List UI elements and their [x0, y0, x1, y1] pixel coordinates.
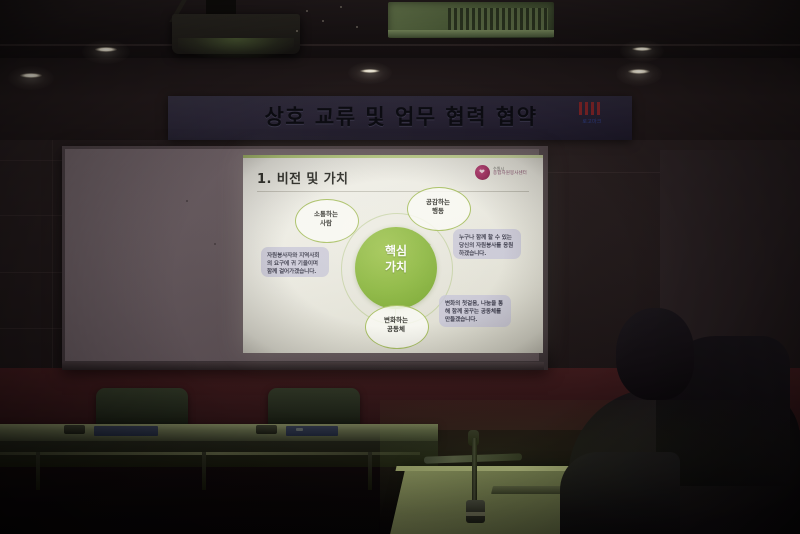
board-speck: [214, 243, 216, 245]
banner-logo: 로고마크: [572, 102, 612, 132]
callout-community-text: 변화의 첫걸음, 나눔을 통해 함께 꿈꾸는 공동체를 만들겠습니다.: [445, 300, 505, 324]
microphone-base-ring: [466, 512, 485, 516]
node-action-line1: 공감하는: [407, 198, 469, 207]
core-value-label: 핵심 가치: [355, 243, 437, 275]
event-banner: 상호 교류 및 업무 협력 협약 로고마크: [168, 96, 632, 140]
callout-people: 자원봉사자와 지역사회의 요구에 귀 기울이며 함께 걸어가겠습니다.: [261, 247, 329, 277]
attendee-arm: [560, 452, 680, 534]
downlight: [632, 47, 652, 51]
banner-logo-text: 로고마크: [572, 118, 612, 125]
table-leg: [36, 452, 40, 490]
downlight-glow: [620, 40, 664, 62]
node-people-line2: 사람: [295, 219, 357, 228]
table-leg: [202, 452, 206, 490]
air-vent-lip: [388, 30, 554, 37]
callout-action-text: 누구나 함께 할 수 있는 당신의 자원봉사를 응원하겠습니다.: [459, 234, 515, 258]
ceiling-speck: [356, 26, 358, 28]
chair: [268, 388, 360, 428]
seated-attendee: [560, 300, 800, 534]
ceiling-speck: [340, 6, 342, 8]
core-value-line1: 핵심: [355, 243, 437, 259]
conference-room-photo: 상호 교류 및 업무 협력 협약 로고마크 1. 비전 및 가치 ❤ 수원시 종…: [0, 0, 800, 534]
desk-paper: [491, 486, 563, 494]
node-people-line1: 소통하는: [295, 210, 357, 219]
board-tray: [62, 362, 544, 370]
slide-logo-badge-icon: ❤: [475, 165, 490, 180]
projector-lens-glow: [178, 38, 294, 58]
wall-panel-seam: [52, 140, 53, 375]
heart-icon: ❤: [479, 169, 486, 176]
slide-logo-text: 수원시 종합자원봉사센터: [493, 166, 531, 176]
slide-top-accent-bar: [243, 155, 543, 158]
desk-device-accent: [296, 428, 303, 431]
callout-action: 누구나 함께 할 수 있는 당신의 자원봉사를 응원하겠습니다.: [453, 229, 521, 259]
desk-device: [64, 425, 85, 434]
node-action-line2: 행동: [407, 207, 469, 216]
downlight-glow: [8, 66, 54, 90]
node-label-action: 공감하는 행동: [407, 198, 469, 216]
desk-device: [256, 425, 277, 434]
node-community-line1: 변화하는: [365, 316, 427, 325]
banner-logo-mark-icon: [579, 102, 601, 115]
downlight: [20, 73, 42, 78]
slide-organization-logo: ❤ 수원시 종합자원봉사센터: [475, 165, 531, 181]
downlight-glow: [82, 40, 130, 64]
banner-title: 상호 교류 및 업무 협력 협약: [226, 101, 576, 131]
conference-table-rail: [0, 452, 420, 455]
node-label-people: 소통하는 사람: [295, 210, 357, 228]
wall-panel-seam: [0, 160, 70, 161]
downlight-glow: [348, 62, 392, 84]
microphone-stem: [472, 438, 477, 504]
chair: [96, 388, 188, 428]
core-value-line2: 가치: [355, 259, 437, 275]
slide-logo-line2: 종합자원봉사센터: [493, 171, 531, 176]
downlight: [628, 69, 650, 74]
ceiling-speck: [322, 20, 324, 22]
ceiling-speck: [296, 30, 298, 32]
ceiling-speck: [306, 10, 308, 12]
attendee-head: [616, 308, 694, 400]
name-placard: [286, 426, 338, 436]
slide-title: 1. 비전 및 가치: [257, 168, 348, 187]
node-community-line2: 공동체: [365, 325, 427, 334]
name-placard: [94, 426, 158, 436]
callout-people-text: 자원봉사자와 지역사회의 요구에 귀 기울이며 함께 걸어가겠습니다.: [267, 252, 323, 276]
downlight: [360, 69, 380, 73]
slide-title-rule: [257, 191, 529, 192]
projected-slide: 1. 비전 및 가치 ❤ 수원시 종합자원봉사센터 핵심 가치 소통하는 사람: [243, 155, 543, 353]
table-leg: [368, 452, 372, 490]
air-vent-grille: [448, 8, 548, 32]
callout-community: 변화의 첫걸음, 나눔을 통해 함께 꿈꾸는 공동체를 만들겠습니다.: [439, 295, 511, 327]
downlight: [95, 47, 117, 52]
downlight-glow: [616, 62, 662, 86]
board-speck: [186, 200, 188, 202]
node-label-community: 변화하는 공동체: [365, 316, 427, 334]
